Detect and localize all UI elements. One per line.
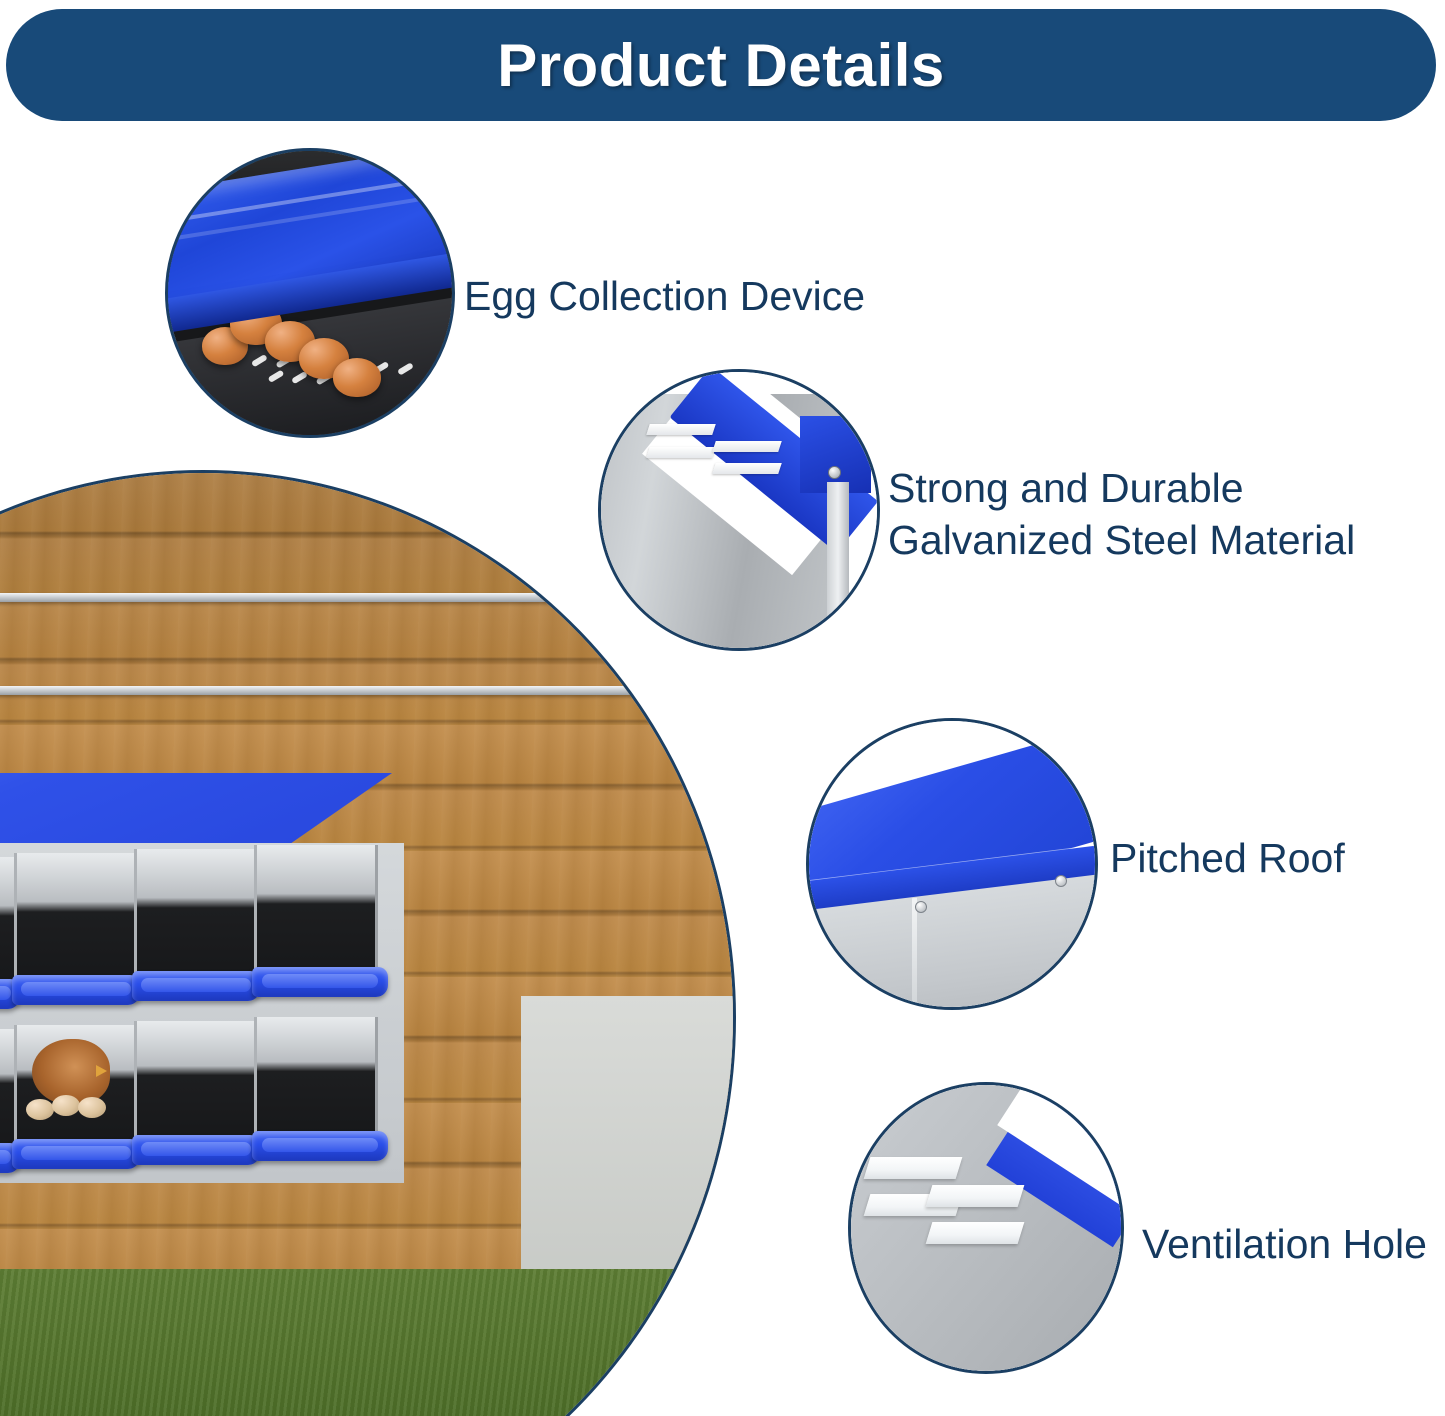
ventilation-slot bbox=[712, 441, 782, 452]
egg bbox=[26, 1099, 54, 1120]
perch-rail bbox=[252, 967, 388, 997]
ventilation-slot bbox=[646, 424, 716, 435]
nesting-box-body bbox=[0, 843, 404, 1183]
egg bbox=[333, 358, 381, 397]
pitched-roof-photo bbox=[806, 718, 1098, 1010]
nest-compartment bbox=[14, 853, 138, 981]
ventilation-slot bbox=[926, 1185, 1025, 1207]
main-product-photo bbox=[0, 470, 736, 1416]
perch-rail bbox=[12, 1139, 140, 1169]
feature-label-line: Ventilation Hole bbox=[1142, 1218, 1427, 1270]
ventilation-slot bbox=[864, 1157, 963, 1179]
feature-label-galvanized-steel: Strong and Durable Galvanized Steel Mate… bbox=[888, 462, 1355, 567]
product-details-banner: Product Details bbox=[6, 9, 1436, 121]
perch-rail bbox=[132, 971, 260, 1001]
egg bbox=[52, 1095, 80, 1116]
product-details-page: Product Details bbox=[0, 0, 1445, 1416]
chicken-nesting-box bbox=[0, 773, 426, 1243]
feature-label-line: Egg Collection Device bbox=[464, 270, 865, 322]
panel-edge-strip bbox=[827, 482, 849, 648]
hen-beak bbox=[96, 1065, 107, 1077]
feature-label-egg-collection: Egg Collection Device bbox=[464, 270, 865, 322]
fence-rail bbox=[0, 686, 733, 695]
wall-seam bbox=[912, 898, 917, 1010]
nest-compartment bbox=[254, 845, 378, 973]
nest-compartment bbox=[134, 849, 258, 977]
ventilation-hole-photo bbox=[848, 1082, 1124, 1374]
fence-rail bbox=[0, 593, 733, 602]
feature-label-line: Pitched Roof bbox=[1110, 832, 1345, 884]
product-scene bbox=[0, 473, 733, 1416]
feature-label-line: Strong and Durable bbox=[888, 462, 1355, 514]
perch-rail bbox=[252, 1131, 388, 1161]
perch-rail bbox=[132, 1135, 260, 1165]
rivet-icon bbox=[915, 901, 927, 913]
screw-icon bbox=[828, 466, 841, 479]
egg-tray-illustration bbox=[168, 151, 452, 435]
feature-label-line: Galvanized Steel Material bbox=[888, 514, 1355, 566]
egg bbox=[78, 1097, 106, 1118]
feature-label-ventilation-hole: Ventilation Hole bbox=[1142, 1218, 1427, 1270]
nest-compartment bbox=[254, 1017, 378, 1135]
perch-rail bbox=[12, 975, 140, 1005]
pitched-roof-illustration bbox=[809, 721, 1095, 1007]
ventilation-slot bbox=[926, 1222, 1025, 1244]
egg-collection-device-photo bbox=[165, 148, 455, 438]
page-title: Product Details bbox=[497, 31, 945, 100]
grass-foreground bbox=[0, 1269, 733, 1416]
ventilation-illustration bbox=[851, 1085, 1121, 1371]
feature-label-pitched-roof: Pitched Roof bbox=[1110, 832, 1345, 884]
ventilation-slot bbox=[646, 447, 716, 458]
nest-compartment bbox=[134, 1021, 258, 1139]
